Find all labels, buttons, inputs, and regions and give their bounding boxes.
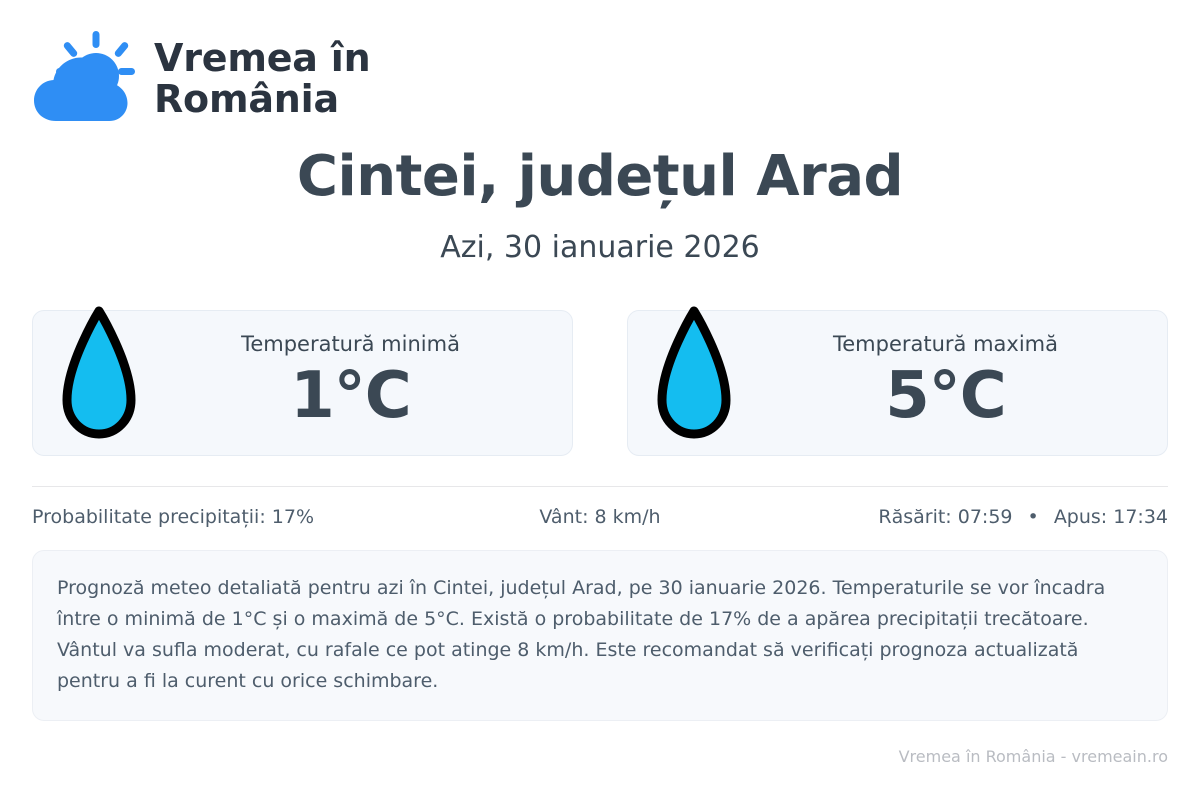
page-title: Cintei, județul Arad: [32, 146, 1168, 208]
brand-title-line2: România: [154, 79, 370, 120]
footer-attribution: Vremea în România - vremeain.ro: [32, 747, 1168, 768]
stats-row: Probabilitate precipitații: 17% Vânt: 8 …: [32, 505, 1168, 530]
water-drop-icon: [650, 305, 738, 455]
forecast-description: Prognoză meteo detaliată pentru azi în C…: [32, 550, 1168, 721]
brand-header: Vremea în România: [32, 0, 1168, 110]
weather-page: Vremea în România Cintei, județul Arad A…: [0, 0, 1200, 800]
sun-separator: •: [1019, 505, 1048, 530]
max-temperature-body: Temperatură maximă 5°C: [738, 332, 1167, 430]
min-temperature-value: 1°C: [290, 362, 411, 431]
water-drop-icon: [55, 305, 143, 455]
min-temperature-card: Temperatură minimă 1°C: [32, 310, 573, 456]
precipitation-stat: Probabilitate precipitații: 17%: [32, 505, 411, 530]
title-block: Cintei, județul Arad Azi, 30 ianuarie 20…: [32, 146, 1168, 266]
temperature-cards: Temperatură minimă 1°C Temperatură maxim…: [32, 310, 1168, 456]
sunset-time: Apus: 17:34: [1054, 506, 1168, 528]
brand-title: Vremea în România: [154, 38, 370, 120]
min-temperature-body: Temperatură minimă 1°C: [143, 332, 572, 430]
sun-behind-cloud-icon: [32, 29, 136, 129]
max-temperature-value: 5°C: [885, 362, 1006, 431]
page-subtitle: Azi, 30 ianuarie 2026: [32, 230, 1168, 266]
max-temperature-card: Temperatură maximă 5°C: [627, 310, 1168, 456]
sunrise-time: Răsărit: 07:59: [878, 506, 1012, 528]
stats-divider: [32, 486, 1168, 487]
wind-stat: Vânt: 8 km/h: [411, 505, 790, 530]
brand-title-line1: Vremea în: [154, 38, 370, 79]
sun-times-stat: Răsărit: 07:59 • Apus: 17:34: [789, 505, 1168, 530]
min-temperature-label: Temperatură minimă: [241, 332, 460, 357]
max-temperature-label: Temperatură maximă: [833, 332, 1058, 357]
